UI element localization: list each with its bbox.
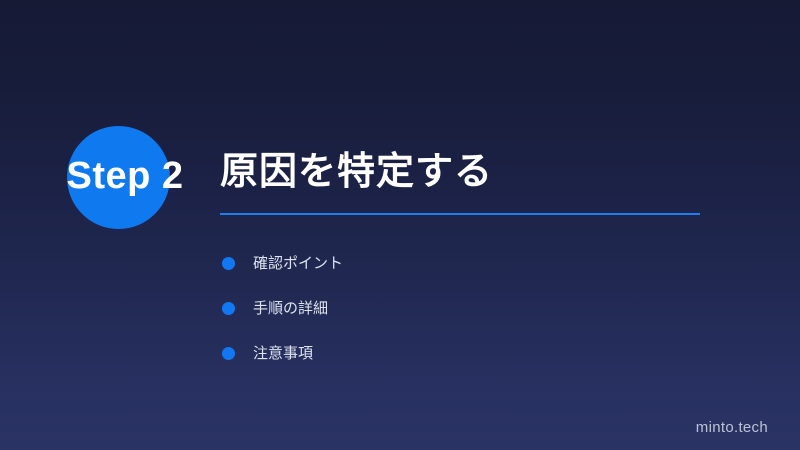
bullet-dot-icon [222, 302, 235, 315]
step-badge-label: Step 2 [40, 154, 210, 198]
bullet-dot-icon [222, 347, 235, 360]
list-item: 注意事項 [222, 331, 343, 376]
bullet-list: 確認ポイント 手順の詳細 注意事項 [222, 241, 343, 376]
bullet-label: 手順の詳細 [253, 299, 328, 319]
list-item: 確認ポイント [222, 241, 343, 286]
title-divider [220, 213, 700, 215]
slide-title: 原因を特定する [220, 148, 493, 196]
bullet-label: 注意事項 [253, 344, 313, 364]
bullet-dot-icon [222, 257, 235, 270]
bullet-label: 確認ポイント [253, 254, 343, 274]
presentation-slide: Step 2 原因を特定する 確認ポイント 手順の詳細 注意事項 minto.t… [0, 0, 800, 450]
list-item: 手順の詳細 [222, 286, 343, 331]
footer-watermark: minto.tech [696, 419, 768, 436]
